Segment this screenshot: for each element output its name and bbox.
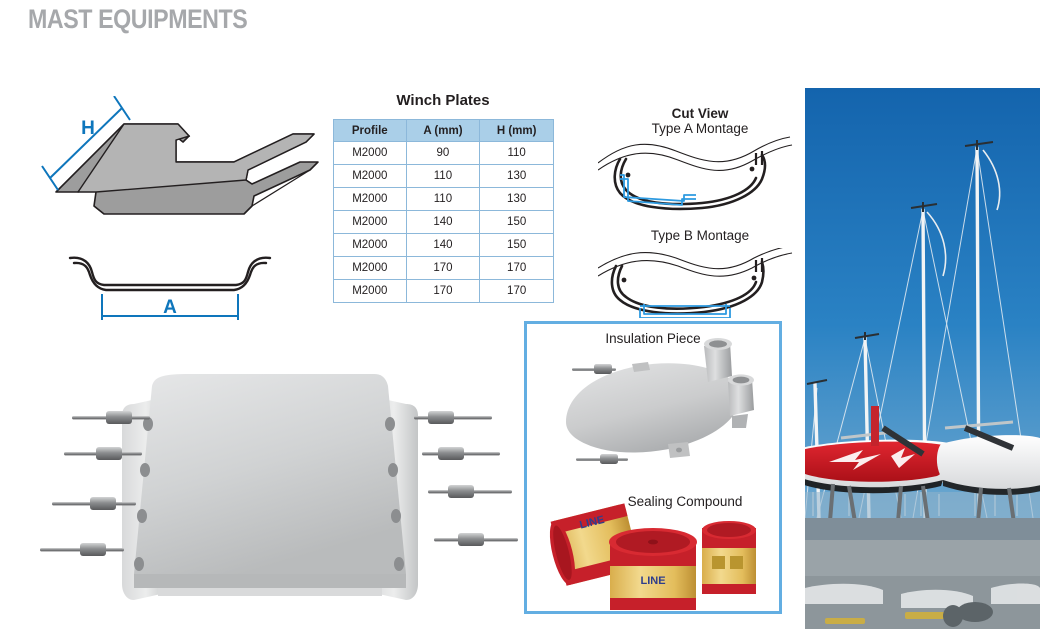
sealing-can-small	[702, 521, 756, 594]
rivet	[434, 533, 518, 546]
sealing-compound-illustration: LINE LINE	[532, 488, 774, 619]
table-row: M2000 140 150	[334, 234, 554, 257]
cell-h: 150	[480, 234, 554, 257]
cell-h: 170	[480, 257, 554, 280]
cell-h: 110	[480, 142, 554, 165]
winch-plates-table: Profile A (mm) H (mm) M2000 90 110 M2000…	[333, 119, 554, 303]
cell-a: 110	[406, 165, 480, 188]
cell-a: 140	[406, 211, 480, 234]
column-header-a: A (mm)	[406, 120, 480, 142]
cell-a: 140	[406, 234, 480, 257]
table-row: M2000 90 110	[334, 142, 554, 165]
cell-profile: M2000	[334, 188, 407, 211]
insulation-piece-illustration	[532, 330, 774, 495]
cell-a: 90	[406, 142, 480, 165]
plate-face	[134, 374, 406, 574]
table-row: M2000 140 150	[334, 211, 554, 234]
cut-view-type-a-label: Type A Montage	[652, 121, 749, 136]
cell-profile: M2000	[334, 165, 407, 188]
rivet	[414, 411, 492, 424]
insulation-tube-upper	[704, 338, 732, 382]
winch-plate-isometric-drawing: H	[38, 96, 330, 251]
winch-plate-section-drawing: A	[60, 250, 280, 330]
cut-view-title-text: Cut View	[672, 106, 729, 121]
cell-profile: M2000	[334, 234, 407, 257]
table-row: M2000 170 170	[334, 280, 554, 303]
rivet	[40, 543, 124, 556]
cell-a: 170	[406, 257, 480, 280]
dimension-label-a: A	[163, 297, 177, 318]
sailboat-masts-photo	[805, 88, 1040, 629]
cut-view-title: Cut View Type A Montage	[600, 106, 800, 136]
cut-view-type-a-highlight	[620, 175, 696, 205]
rivet	[422, 447, 500, 460]
column-header-profile: Profile	[334, 120, 407, 142]
can-brand-text: LINE	[640, 575, 665, 587]
cut-view-type-b-label: Type B Montage	[600, 228, 800, 243]
table-row: M2000 110 130	[334, 165, 554, 188]
rivet	[572, 364, 616, 374]
rivet	[428, 485, 512, 498]
cell-h: 130	[480, 188, 554, 211]
cell-profile: M2000	[334, 280, 407, 303]
column-header-h: H (mm)	[480, 120, 554, 142]
cell-profile: M2000	[334, 142, 407, 165]
table-row: M2000 110 130	[334, 188, 554, 211]
insulation-tube-lower	[728, 374, 754, 416]
page-title: MAST EQUIPMENTS	[28, 4, 247, 35]
table-row: M2000 170 170	[334, 257, 554, 280]
cell-h: 150	[480, 211, 554, 234]
cell-h: 170	[480, 280, 554, 303]
dimension-label-h: H	[81, 118, 95, 139]
table-header-row: Profile A (mm) H (mm)	[334, 120, 554, 142]
cell-profile: M2000	[334, 257, 407, 280]
cell-a: 170	[406, 280, 480, 303]
cell-h: 130	[480, 165, 554, 188]
mast-plate-assembly	[30, 352, 522, 629]
rivet-marker	[622, 276, 757, 283]
cut-view-type-b-drawing	[598, 248, 798, 318]
cell-a: 110	[406, 188, 480, 211]
winch-plates-title: Winch Plates	[332, 92, 554, 109]
cell-profile: M2000	[334, 211, 407, 234]
rivet	[576, 454, 628, 464]
rivet-right-group	[414, 411, 518, 546]
cut-view-type-a-drawing	[598, 135, 798, 213]
sealing-can-medium: LINE	[609, 528, 697, 610]
